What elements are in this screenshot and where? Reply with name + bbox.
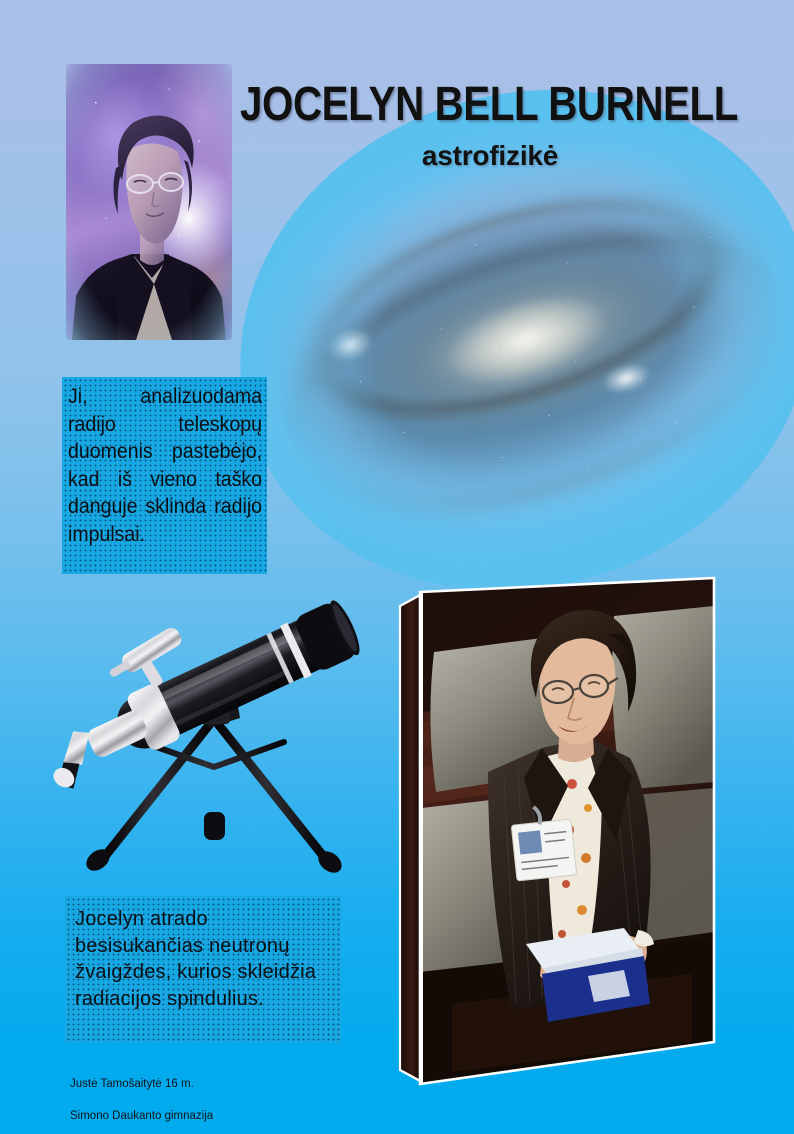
page-subtitle: astrofizikė [240, 140, 740, 172]
refractor-telescope-illustration [38, 512, 398, 902]
credits-school: Simono Daukanto gimnazija [70, 1108, 213, 1124]
credits-block: Justė Tamošaitytė 16 m. Simono Daukanto … [70, 1060, 213, 1134]
text-panel-neutron-stars-body: Jocelyn atrado besisukančias neutronų žv… [75, 906, 335, 1012]
text-panel-neutron-stars: Jocelyn atrado besisukančias neutronų žv… [65, 896, 341, 1043]
satellite-galaxy-icon [601, 359, 653, 397]
painted-portrait-of-jocelyn-bell-burnell [66, 64, 232, 340]
photo-of-jocelyn-bell-burnell-seated [392, 572, 722, 1092]
portrait-figure-silhouette [66, 64, 232, 340]
poster-canvas: JOCELYN BELL BURNELL astrofizikė Ji, ana… [0, 0, 794, 1134]
satellite-galaxy-icon [325, 325, 374, 366]
credits-author: Justė Tamošaitytė 16 m. [70, 1076, 213, 1092]
page-title: JOCELYN BELL BURNELL [240, 78, 660, 132]
